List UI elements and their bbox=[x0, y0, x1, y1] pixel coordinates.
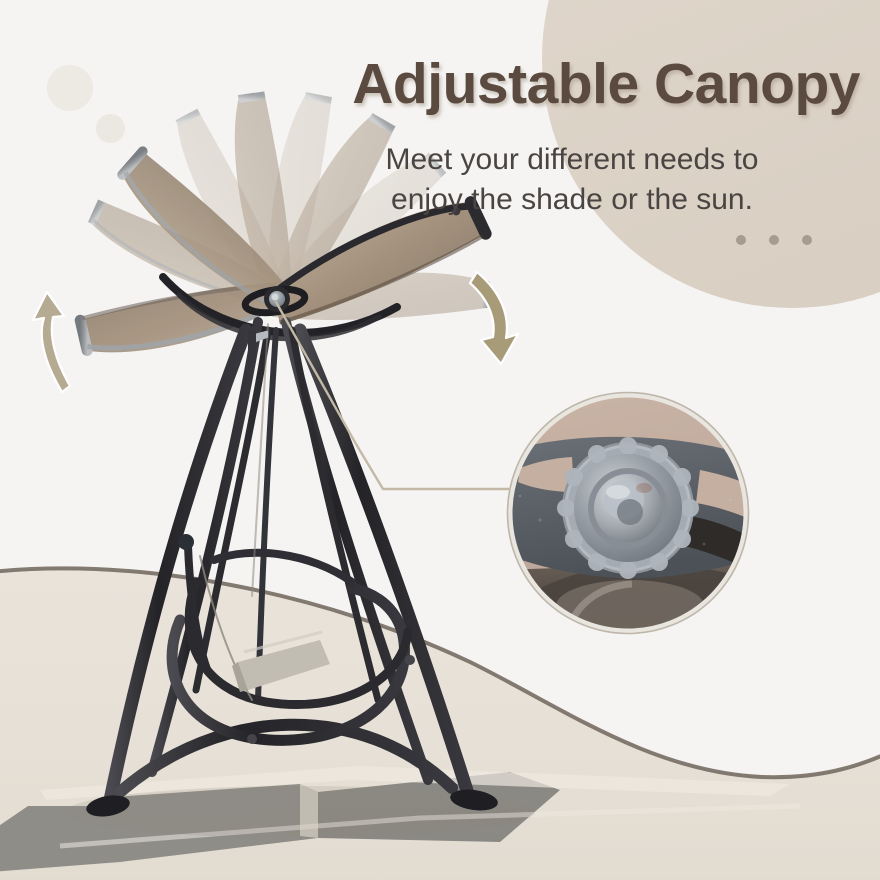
callout-leader-line bbox=[276, 302, 512, 489]
product-feature-image: Adjustable Canopy Meet your different ne… bbox=[0, 0, 880, 880]
decor-dot-3 bbox=[802, 235, 812, 245]
page-title: Adjustable Canopy bbox=[300, 54, 860, 116]
detail-callout-group bbox=[0, 0, 880, 880]
decor-dot-2 bbox=[769, 235, 779, 245]
subtitle-line-2: enjoy the shade or the sun. bbox=[300, 180, 844, 220]
decor-dot-row bbox=[736, 235, 812, 245]
subtitle-line-1: Meet your different needs to bbox=[300, 140, 844, 180]
page-subtitle: Meet your different needs to enjoy the s… bbox=[300, 140, 844, 220]
decor-dot-1 bbox=[736, 235, 746, 245]
adjustment-knob-magnifier bbox=[500, 390, 762, 640]
